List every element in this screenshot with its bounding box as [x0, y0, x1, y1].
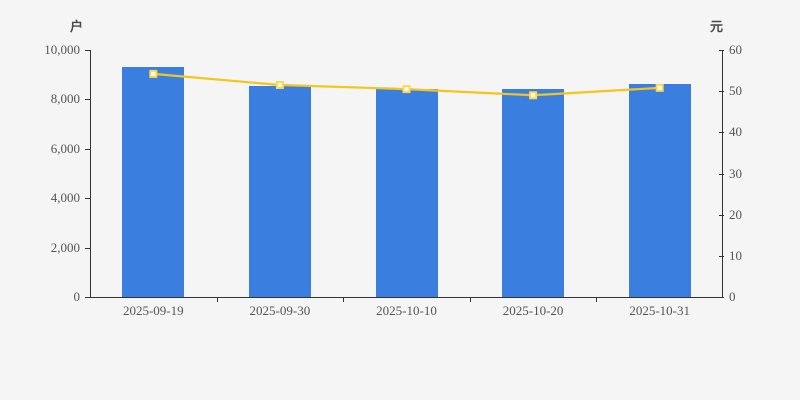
left-tick-label: 10,000	[0, 42, 80, 58]
right-tick-mark	[719, 50, 724, 51]
right-tick-mark	[719, 91, 724, 92]
left-tick-mark	[85, 50, 90, 51]
left-tick-mark	[85, 198, 90, 199]
right-tick-label: 30	[729, 166, 742, 182]
left-tick-mark	[85, 248, 90, 249]
x-tick-label: 2025-10-10	[376, 303, 437, 319]
left-axis-unit-label: 户	[70, 16, 83, 35]
right-tick-label: 10	[729, 248, 742, 264]
bar[interactable]	[376, 89, 438, 297]
right-tick-label: 50	[729, 83, 742, 99]
x-tick-label: 2025-09-30	[250, 303, 311, 319]
x-tick-mark	[470, 297, 471, 302]
right-tick-mark	[719, 297, 724, 298]
x-tick-mark	[596, 297, 597, 302]
right-tick-label: 0	[729, 289, 736, 305]
right-tick-mark	[719, 174, 724, 175]
right-tick-label: 20	[729, 207, 742, 223]
left-tick-label: 8,000	[0, 91, 80, 107]
bar[interactable]	[502, 89, 564, 297]
right-axis-unit-label: 元	[710, 16, 723, 35]
left-tick-mark	[85, 297, 90, 298]
bar[interactable]	[122, 67, 184, 297]
bar[interactable]	[249, 86, 311, 297]
right-tick-label: 40	[729, 124, 742, 140]
left-axis-line	[90, 50, 91, 297]
right-tick-mark	[719, 215, 724, 216]
x-tick-label: 2025-09-19	[123, 303, 184, 319]
chart-container: 户 元 02,0004,0006,0008,00010,000 01020304…	[0, 0, 800, 400]
left-tick-label: 0	[0, 289, 80, 305]
left-tick-mark	[85, 99, 90, 100]
left-tick-label: 6,000	[0, 141, 80, 157]
x-tick-label: 2025-10-31	[629, 303, 690, 319]
right-tick-mark	[719, 132, 724, 133]
x-tick-label: 2025-10-20	[503, 303, 564, 319]
x-tick-mark	[343, 297, 344, 302]
x-tick-mark	[217, 297, 218, 302]
left-tick-mark	[85, 149, 90, 150]
right-tick-mark	[719, 256, 724, 257]
left-tick-label: 2,000	[0, 240, 80, 256]
left-tick-label: 4,000	[0, 190, 80, 206]
right-tick-label: 60	[729, 42, 742, 58]
bar[interactable]	[629, 84, 691, 297]
